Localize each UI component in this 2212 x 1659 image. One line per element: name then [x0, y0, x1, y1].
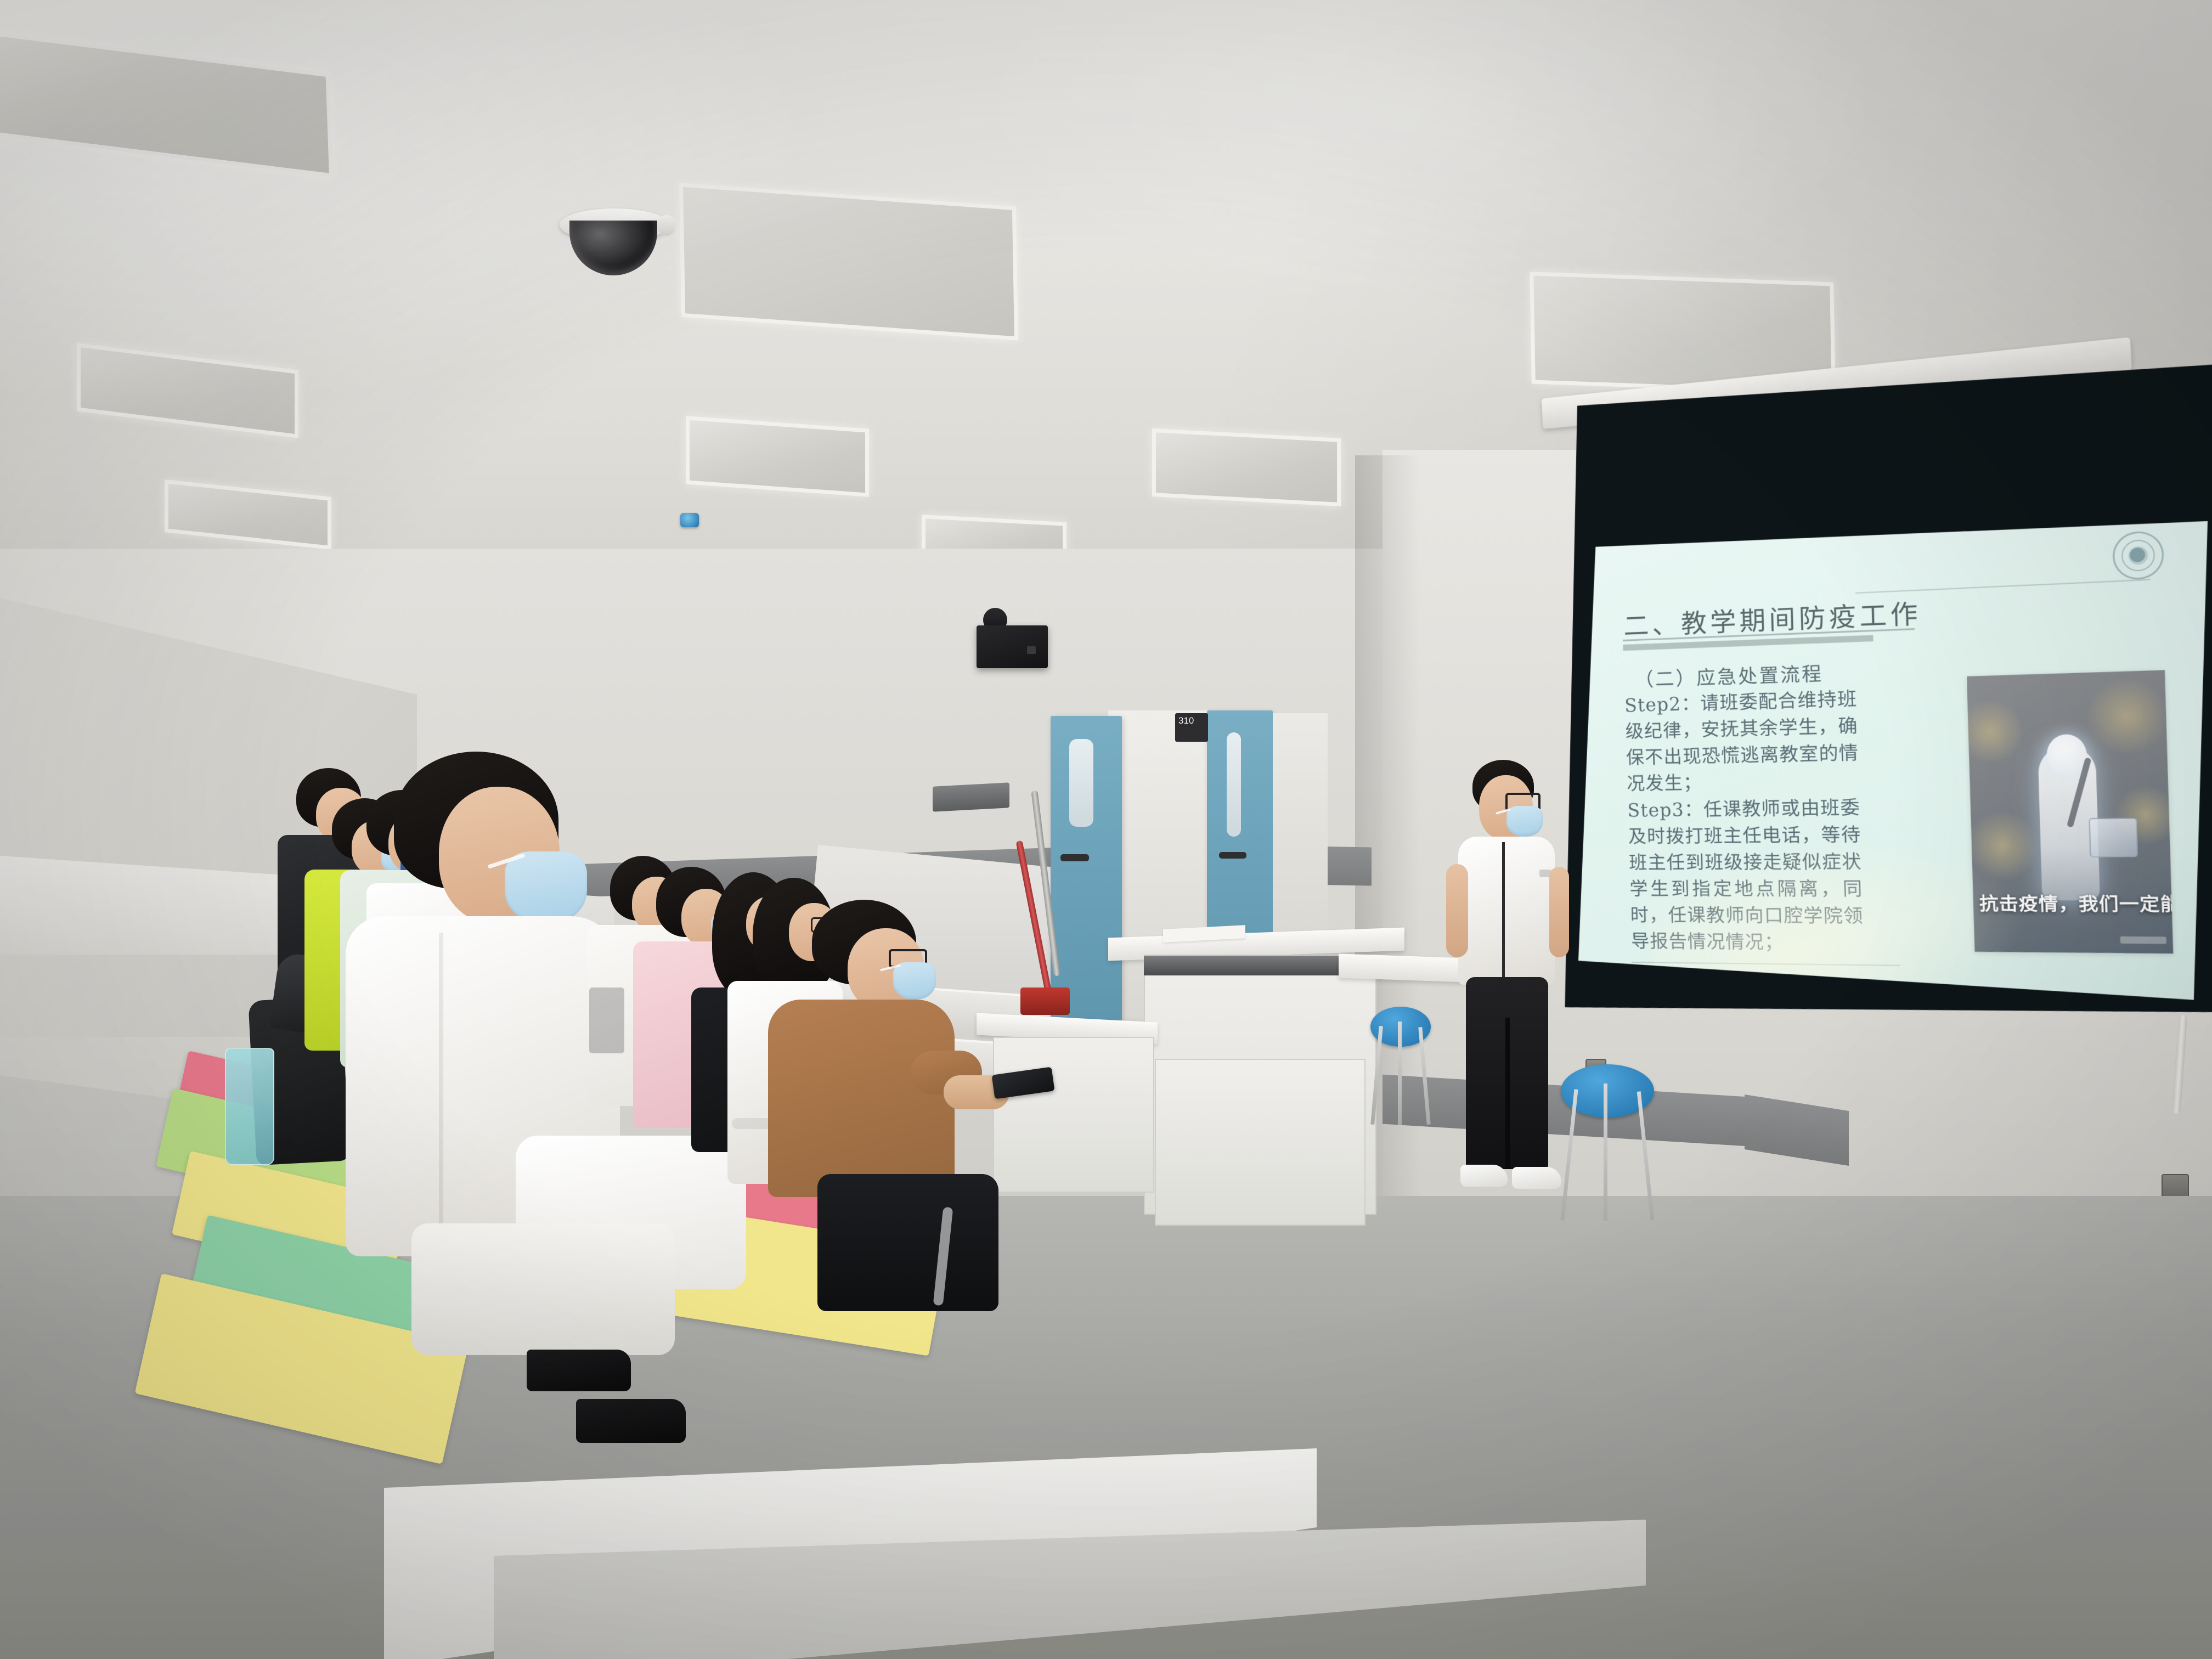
hoodie-print — [589, 988, 624, 1053]
presenter — [1432, 760, 1569, 1199]
recessed-light-panel — [679, 183, 1018, 340]
blue-round-stool[interactable] — [1561, 1064, 1654, 1221]
door-handle[interactable] — [1219, 852, 1246, 859]
cabinet-door[interactable] — [1155, 1059, 1365, 1226]
wall-mounted-speaker — [977, 625, 1048, 668]
door-handle[interactable] — [1060, 854, 1089, 861]
presenter-shirt — [1458, 837, 1555, 985]
presenter-left-arm — [1446, 864, 1468, 957]
slide-body-text: Step2：请班委配合维持班级纪律，安抚其余学生，确保不出现恐慌逃离教室的情况发… — [1624, 686, 1865, 958]
dustpan[interactable] — [1020, 988, 1070, 1015]
presenter-left-shoe — [1460, 1165, 1508, 1187]
face-mask-icon — [1506, 806, 1543, 837]
slide-heading: 二、教学期间防疫工作 — [1623, 593, 1922, 643]
student-left-shoe — [527, 1350, 631, 1391]
classroom-photo-scene: 二、教学期间防疫工作 （二）应急处置流程 Step2：请班委配合维持班级纪律，安… — [0, 0, 2212, 1659]
blue-sensor-icon — [680, 513, 699, 527]
speaker-badge — [1027, 646, 1036, 654]
projection-screen: 二、教学期间防疫工作 （二）应急处置流程 Step2：请班委配合维持班级纪律，安… — [1553, 362, 2212, 1059]
coat-seam — [439, 933, 443, 1229]
attendee-brown-shirt — [757, 900, 988, 1328]
face-mask-icon — [505, 851, 587, 924]
poster-caption: 抗击疫情，我们一定能赢！ — [1979, 889, 2167, 916]
low-cabinet[interactable] — [993, 1037, 1154, 1193]
student-trousers — [411, 1223, 675, 1355]
room-number-sign: 310 — [1175, 713, 1208, 742]
slide-paragraph-step3: Step3：任课教师或由班委及时拨打班主任电话，等待班主任到班级接走疑似症状学生… — [1627, 795, 1865, 957]
face-mask-icon — [893, 962, 936, 1000]
slide-poster-image: 抗击疫情，我们一定能赢！ — [1967, 670, 2173, 953]
recessed-light-panel — [1152, 428, 1341, 506]
projected-slide: 二、教学期间防疫工作 （二）应急处置流程 Step2：请班委配合维持班级纪律，安… — [1578, 521, 2208, 1001]
slide-top-rule — [1855, 579, 2151, 594]
attendee-brown-tshirt — [768, 1000, 955, 1197]
door-window — [1227, 732, 1241, 837]
slide-bottom-rule — [1632, 962, 1900, 966]
attendee-trousers — [817, 1174, 998, 1311]
poster-watermark — [2120, 936, 2166, 944]
recessed-light-panel — [686, 416, 869, 496]
door-window — [1069, 739, 1093, 827]
presenter-right-shoe — [1512, 1167, 1561, 1189]
wall-tray — [933, 782, 1009, 811]
university-seal-logo — [2112, 530, 2165, 580]
student-right-shoe — [576, 1399, 686, 1443]
presenter-right-arm — [1549, 867, 1569, 957]
blue-round-stool[interactable] — [1370, 1007, 1431, 1125]
trouser-seam — [1505, 1018, 1510, 1169]
ppe-case — [2089, 818, 2138, 858]
shirt-placket — [1502, 842, 1505, 982]
slide-paragraph-step2: Step2：请班委配合维持班级纪律，安抚其余学生，确保不出现恐慌逃离教室的情况发… — [1624, 686, 1860, 797]
slide-subheading: （二）应急处置流程 — [1634, 658, 1823, 692]
door-left-panel[interactable] — [1051, 716, 1122, 1031]
water-bottle[interactable] — [225, 1048, 274, 1165]
